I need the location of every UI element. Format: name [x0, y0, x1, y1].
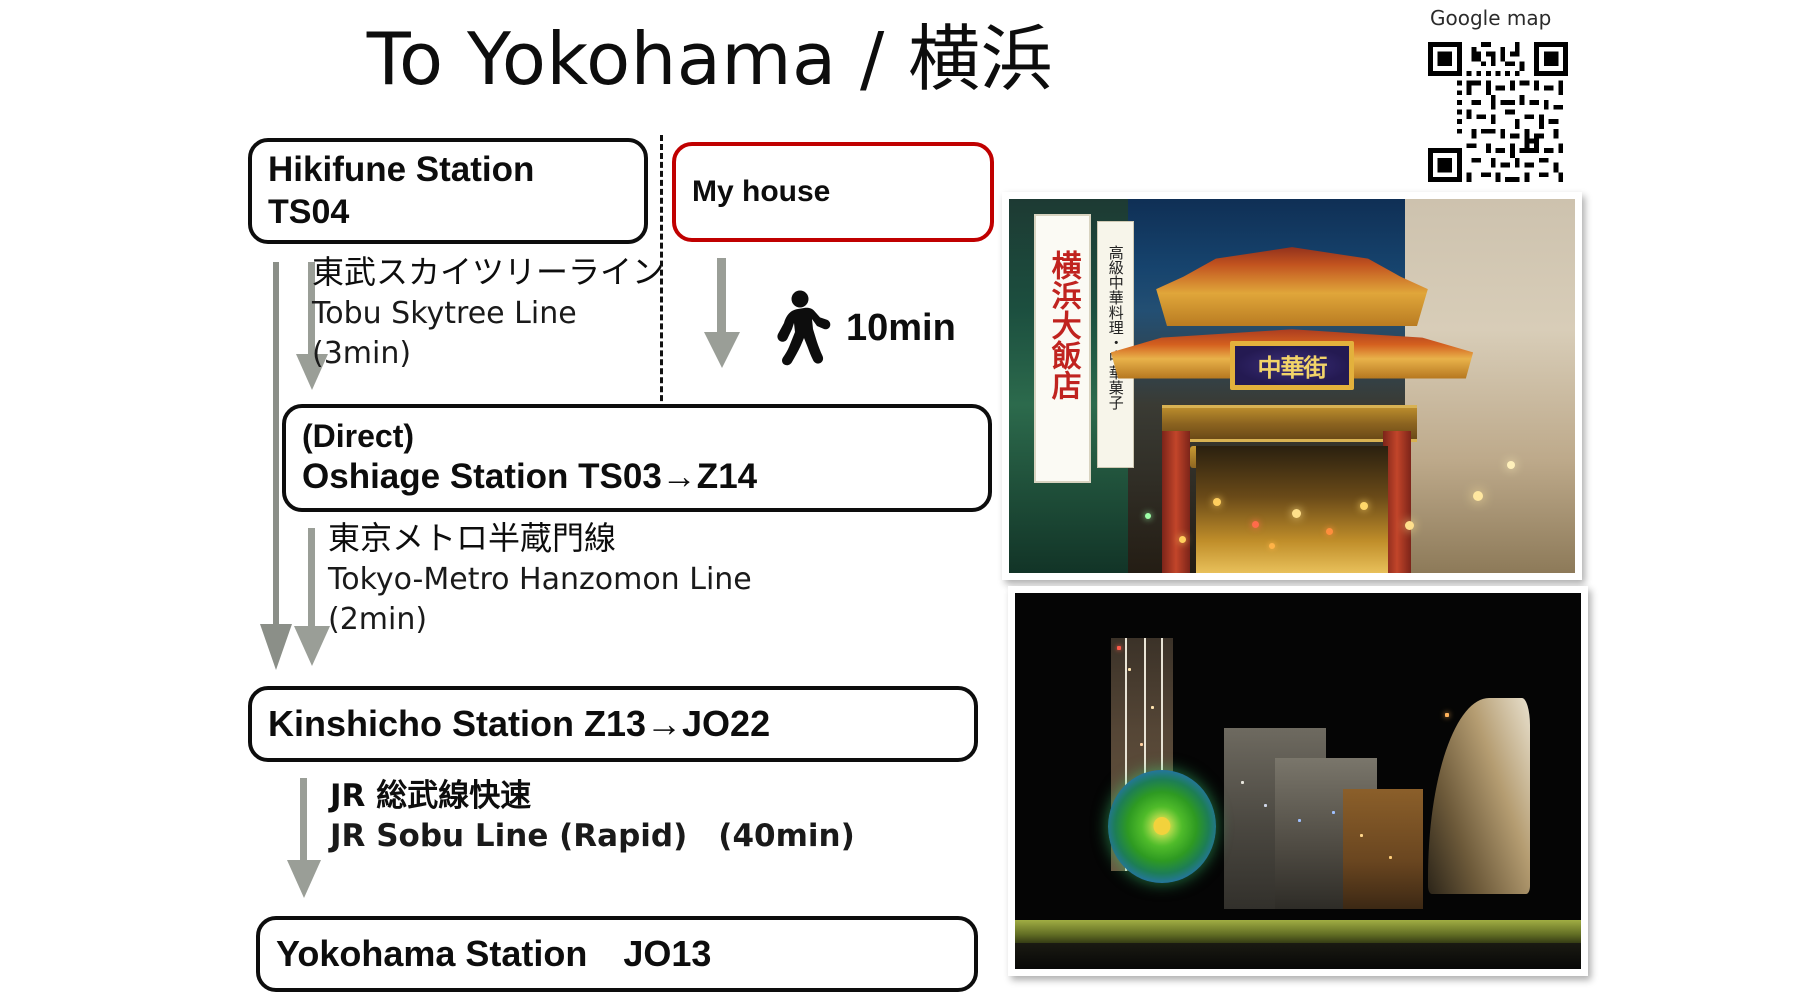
google-map-label: Google map: [1430, 6, 1592, 30]
station-node-hikifune[interactable]: Hikifune Station TS04: [248, 138, 648, 244]
station-node-kinshicho[interactable]: Kinshicho Station Z13→JO22: [248, 686, 978, 762]
photo-chinatown[interactable]: 横浜大飯店 高級中華料理・中華菓子 中華街: [1002, 192, 1582, 580]
cosmo-clock-ferris-wheel: [1108, 770, 1216, 883]
route-arrow-hanzomon: [292, 528, 332, 668]
leg-line-name-jp: JR 総武線快速: [330, 776, 855, 816]
leg-tobu-skytree: 東武スカイツリーライン Tobu Skytree Line (3min): [312, 252, 664, 375]
station-name-code: Yokohama Station JO13: [276, 932, 958, 976]
leg-line-name-jp: 東武スカイツリーライン: [312, 252, 664, 294]
leg-line-name-jp: 東京メトロ半蔵門線: [328, 518, 752, 560]
station-node-yokohama[interactable]: Yokohama Station JO13: [256, 916, 978, 992]
leg-line-name-en: Tobu Skytree Line: [312, 294, 664, 335]
page-title-jp: 横浜: [908, 17, 1053, 101]
leg-duration: (3min): [312, 334, 664, 375]
station-name-code: Oshiage Station TS03→Z14: [302, 456, 972, 499]
route-arrow-walk: [700, 258, 744, 370]
location-node-my-house[interactable]: My house: [672, 142, 994, 242]
station-code: TS04: [268, 192, 628, 233]
photo-minato-mirai[interactable]: [1008, 586, 1588, 976]
leg-hanzomon: 東京メトロ半蔵門線 Tokyo-Metro Hanzomon Line (2mi…: [328, 518, 752, 641]
route-arrow-jr-sobu: [282, 778, 326, 900]
station-name: Hikifune Station: [268, 149, 628, 192]
chinatown-street-lights: [1009, 199, 1575, 573]
leg-walk: 10min: [770, 290, 956, 366]
station-name-code: Kinshicho Station Z13→JO22: [268, 702, 958, 746]
google-map-qr-block[interactable]: Google map: [1412, 6, 1592, 182]
slide-canvas: To Yokohama / 横浜 Google map: [0, 0, 1800, 1000]
leg-line-name-en: Tokyo-Metro Hanzomon Line: [328, 560, 752, 601]
walk-duration: 10min: [846, 307, 956, 350]
leg-duration: (2min): [328, 600, 752, 641]
walking-person-icon: [770, 290, 832, 366]
transfer-type-label: (Direct): [302, 417, 972, 456]
leg-line-name-en: JR Sobu Line (Rapid) (40min): [330, 816, 855, 858]
location-label: My house: [692, 174, 974, 211]
page-title: To Yokohama / 横浜: [0, 22, 1420, 98]
station-node-oshiage[interactable]: (Direct) Oshiage Station TS03→Z14: [282, 404, 992, 512]
qr-code-icon[interactable]: [1428, 42, 1568, 182]
leg-jr-sobu: JR 総武線快速 JR Sobu Line (Rapid) (40min): [330, 776, 855, 858]
page-title-en: To Yokohama /: [367, 17, 908, 101]
